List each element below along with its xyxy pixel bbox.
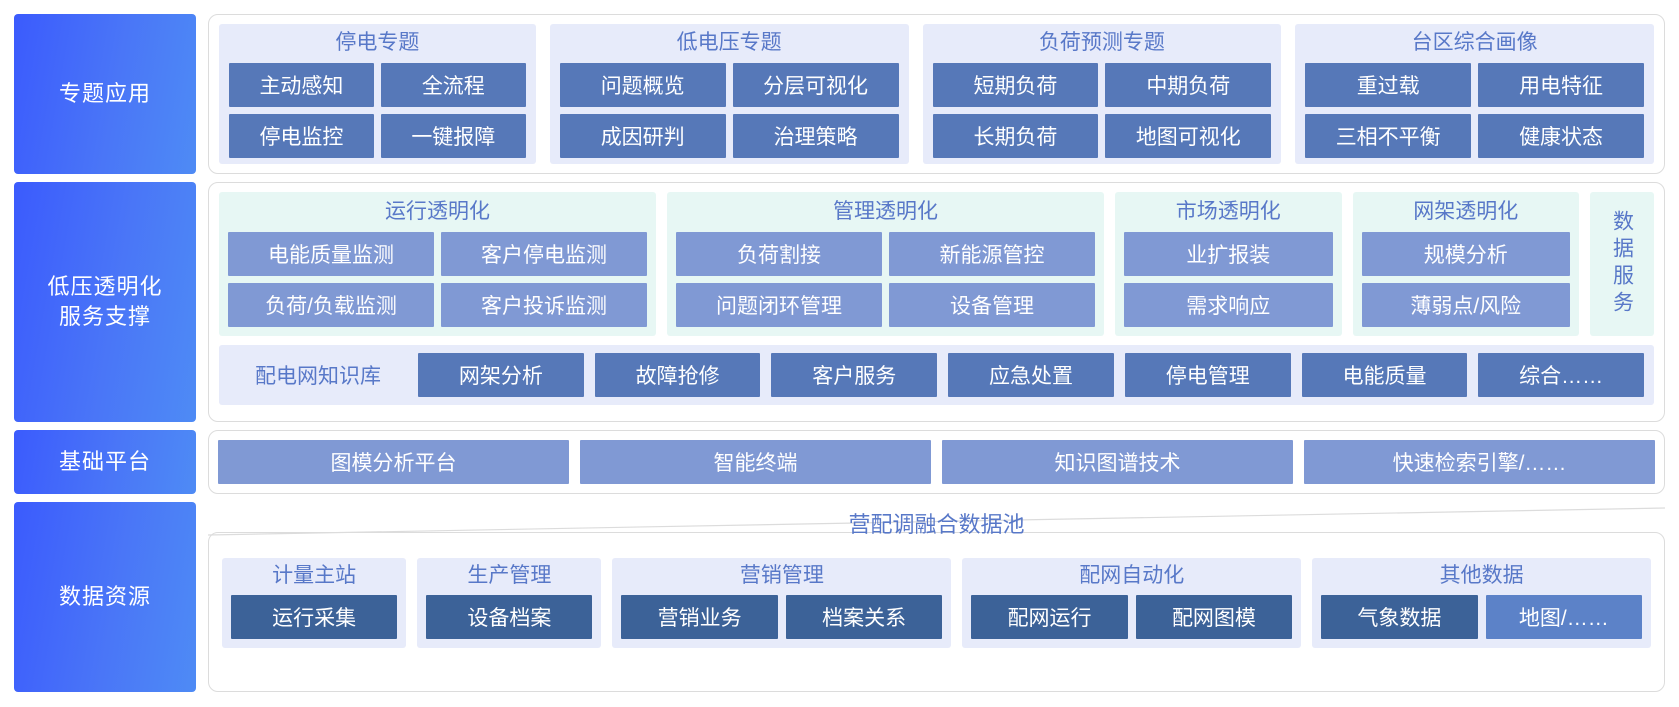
group-title-distribution-automation: 配网自动化: [971, 563, 1292, 589]
group-data-service: 数据服务: [1590, 192, 1654, 336]
tile-long-term-load[interactable]: 长期负荷: [933, 114, 1099, 158]
group-title-operation-transparency: 运行透明化: [228, 199, 647, 225]
tile-grid-market-transparency: 业扩报装 需求响应: [1124, 232, 1332, 327]
layer-label-platform: 基础平台: [14, 430, 196, 494]
tile-row-production-management: 设备档案: [426, 595, 592, 639]
tile-knowledge-graph-technology[interactable]: 知识图谱技术: [942, 440, 1293, 484]
layer-body-platform: 图模分析平台 智能终端 知识图谱技术 快速检索引擎/……: [208, 430, 1665, 494]
group-title-other-data: 其他数据: [1321, 563, 1642, 589]
tile-archive-relation[interactable]: 档案关系: [786, 595, 942, 639]
tile-business-expansion[interactable]: 业扩报装: [1124, 232, 1332, 276]
tile-heavy-overload[interactable]: 重过载: [1305, 63, 1471, 107]
tile-full-process[interactable]: 全流程: [381, 63, 526, 107]
architecture-diagram: 专题应用 停电专题 主动感知 全流程 停电监控 一键报障 低电压专题 问题概览 …: [0, 0, 1679, 707]
group-grid-structure-transparency: 网架透明化 规模分析 薄弱点/风险: [1353, 192, 1579, 336]
tile-outage-monitoring[interactable]: 停电监控: [229, 114, 374, 158]
tile-emergency-handling[interactable]: 应急处置: [948, 353, 1114, 397]
layer-body-topic-application: 停电专题 主动感知 全流程 停电监控 一键报障 低电压专题 问题概览 分层可视化…: [208, 14, 1665, 174]
group-operation-transparency: 运行透明化 电能质量监测 客户停电监测 负荷/负载监测 客户投诉监测: [219, 192, 656, 336]
data-group-container: 计量主站 运行采集 生产管理 设备档案 营销管理 营销业务 档案关系: [218, 558, 1655, 652]
group-management-transparency: 管理透明化 负荷割接 新能源管控 问题闭环管理 设备管理: [667, 192, 1104, 336]
tile-cause-analysis[interactable]: 成因研判: [560, 114, 726, 158]
tile-grid-load-forecast-topic: 短期负荷 中期负荷 长期负荷 地图可视化: [933, 63, 1272, 158]
tile-distribution-operation[interactable]: 配网运行: [971, 595, 1127, 639]
tile-row-metering-master-station: 运行采集: [231, 595, 397, 639]
group-distribution-automation: 配网自动化 配网运行 配网图模: [962, 558, 1301, 648]
group-market-transparency: 市场透明化 业扩报装 需求响应: [1115, 192, 1341, 336]
layer-label-topic-application: 专题应用: [14, 14, 196, 174]
tile-customer-service[interactable]: 客户服务: [771, 353, 937, 397]
tile-load-monitoring[interactable]: 负荷/负载监测: [228, 283, 434, 327]
group-title-marketing-management: 营销管理: [621, 563, 942, 589]
tile-equipment-archive[interactable]: 设备档案: [426, 595, 592, 639]
group-other-data: 其他数据 气象数据 地图/……: [1312, 558, 1651, 648]
layer-body-data-resource: 营配调融合数据池 计量主站 运行采集 生产管理 设备档案 营销管理: [208, 502, 1665, 692]
group-metering-master-station: 计量主站 运行采集: [222, 558, 406, 648]
tile-fault-repair[interactable]: 故障抢修: [595, 353, 761, 397]
tile-grid-station-profile: 重过载 用电特征 三相不平衡 健康状态: [1305, 63, 1644, 158]
layer-label-data-resource: 数据资源: [14, 502, 196, 692]
tile-power-quality-monitoring[interactable]: 电能质量监测: [228, 232, 434, 276]
knowledge-base-label: 配电网知识库: [229, 360, 407, 390]
tile-smart-terminal[interactable]: 智能终端: [580, 440, 931, 484]
tile-outage-management[interactable]: 停电管理: [1125, 353, 1291, 397]
layer-label-support: 低压透明化 服务支撑: [14, 182, 196, 422]
knowledge-base-bar: 配电网知识库 网架分析 故障抢修 客户服务 应急处置 停电管理 电能质量 综合……: [219, 345, 1654, 405]
group-title-production-management: 生产管理: [426, 563, 592, 589]
tile-weather-data[interactable]: 气象数据: [1321, 595, 1477, 639]
group-marketing-management: 营销管理 营销业务 档案关系: [612, 558, 951, 648]
layer-row-data-resource: 数据资源 营配调融合数据池 计量主站 运行采集 生产管理: [14, 502, 1665, 692]
support-group-container: 运行透明化 电能质量监测 客户停电监测 负荷/负载监测 客户投诉监测 管理透明化…: [219, 192, 1654, 336]
tile-grid-outage-topic: 主动感知 全流程 停电监控 一键报障: [229, 63, 526, 158]
layer-row-support: 低压透明化 服务支撑 运行透明化 电能质量监测 客户停电监测 负荷/负载监测 客…: [14, 182, 1665, 422]
layer-row-platform: 基础平台 图模分析平台 智能终端 知识图谱技术 快速检索引擎/……: [14, 430, 1665, 494]
tile-grid-management-transparency: 负荷割接 新能源管控 问题闭环管理 设备管理: [676, 232, 1095, 327]
tile-grid-structure-analysis[interactable]: 网架分析: [418, 353, 584, 397]
tile-governance-strategy[interactable]: 治理策略: [733, 114, 899, 158]
group-title-outage-topic: 停电专题: [229, 30, 526, 56]
group-title-management-transparency: 管理透明化: [676, 199, 1095, 225]
tile-health-status[interactable]: 健康状态: [1478, 114, 1644, 158]
group-title-grid-structure-transparency: 网架透明化: [1362, 199, 1570, 225]
tile-scale-analysis[interactable]: 规模分析: [1362, 232, 1570, 276]
tile-map-data[interactable]: 地图/……: [1486, 595, 1642, 639]
tile-active-sensing[interactable]: 主动感知: [229, 63, 374, 107]
group-outage-topic: 停电专题 主动感知 全流程 停电监控 一键报障: [219, 24, 536, 164]
tile-grid-operation-transparency: 电能质量监测 客户停电监测 负荷/负载监测 客户投诉监测: [228, 232, 647, 327]
tile-row-marketing-management: 营销业务 档案关系: [621, 595, 942, 639]
tile-map-visualization[interactable]: 地图可视化: [1105, 114, 1271, 158]
tile-problem-closed-loop-management[interactable]: 问题闭环管理: [676, 283, 882, 327]
tile-power-quality[interactable]: 电能质量: [1302, 353, 1468, 397]
tile-graph-model-analysis-platform[interactable]: 图模分析平台: [218, 440, 569, 484]
tile-layered-visualization[interactable]: 分层可视化: [733, 63, 899, 107]
tile-fast-search-engine[interactable]: 快速检索引擎/……: [1304, 440, 1655, 484]
group-station-profile: 台区综合画像 重过载 用电特征 三相不平衡 健康状态: [1295, 24, 1654, 164]
tile-power-usage-feature[interactable]: 用电特征: [1478, 63, 1644, 107]
tile-grid-low-voltage-topic: 问题概览 分层可视化 成因研判 治理策略: [560, 63, 899, 158]
tile-mid-term-load[interactable]: 中期负荷: [1105, 63, 1271, 107]
tile-row-distribution-automation: 配网运行 配网图模: [971, 595, 1292, 639]
tile-weak-point-risk[interactable]: 薄弱点/风险: [1362, 283, 1570, 327]
layer-body-support: 运行透明化 电能质量监测 客户停电监测 负荷/负载监测 客户投诉监测 管理透明化…: [208, 182, 1665, 422]
group-low-voltage-topic: 低电压专题 问题概览 分层可视化 成因研判 治理策略: [550, 24, 909, 164]
tile-three-phase-imbalance[interactable]: 三相不平衡: [1305, 114, 1471, 158]
group-load-forecast-topic: 负荷预测专题 短期负荷 中期负荷 长期负荷 地图可视化: [923, 24, 1282, 164]
tile-one-click-report[interactable]: 一键报障: [381, 114, 526, 158]
tile-short-term-load[interactable]: 短期负荷: [933, 63, 1099, 107]
group-title-load-forecast-topic: 负荷预测专题: [933, 30, 1272, 56]
data-pool-title: 营配调融合数据池: [218, 506, 1655, 546]
tile-grid-grid-structure-transparency: 规模分析 薄弱点/风险: [1362, 232, 1570, 327]
tile-customer-complaint-monitoring[interactable]: 客户投诉监测: [441, 283, 647, 327]
tile-problem-overview[interactable]: 问题概览: [560, 63, 726, 107]
tile-load-transfer[interactable]: 负荷割接: [676, 232, 882, 276]
tile-row-other-data: 气象数据 地图/……: [1321, 595, 1642, 639]
tile-operation-collection[interactable]: 运行采集: [231, 595, 397, 639]
tile-demand-response[interactable]: 需求响应: [1124, 283, 1332, 327]
group-title-market-transparency: 市场透明化: [1124, 199, 1332, 225]
tile-distribution-graph-model[interactable]: 配网图模: [1136, 595, 1292, 639]
group-title-low-voltage-topic: 低电压专题: [560, 30, 899, 56]
tile-equipment-management[interactable]: 设备管理: [889, 283, 1095, 327]
layer-row-topic-application: 专题应用 停电专题 主动感知 全流程 停电监控 一键报障 低电压专题 问题概览 …: [14, 14, 1665, 174]
group-title-metering-master-station: 计量主站: [231, 563, 397, 589]
tile-comprehensive-more[interactable]: 综合……: [1478, 353, 1644, 397]
tile-marketing-business[interactable]: 营销业务: [621, 595, 777, 639]
group-title-data-service: 数据服务: [1612, 210, 1633, 318]
tile-new-energy-control[interactable]: 新能源管控: [889, 232, 1095, 276]
tile-customer-outage-monitoring[interactable]: 客户停电监测: [441, 232, 647, 276]
group-production-management: 生产管理 设备档案: [417, 558, 601, 648]
group-title-station-profile: 台区综合画像: [1305, 30, 1644, 56]
